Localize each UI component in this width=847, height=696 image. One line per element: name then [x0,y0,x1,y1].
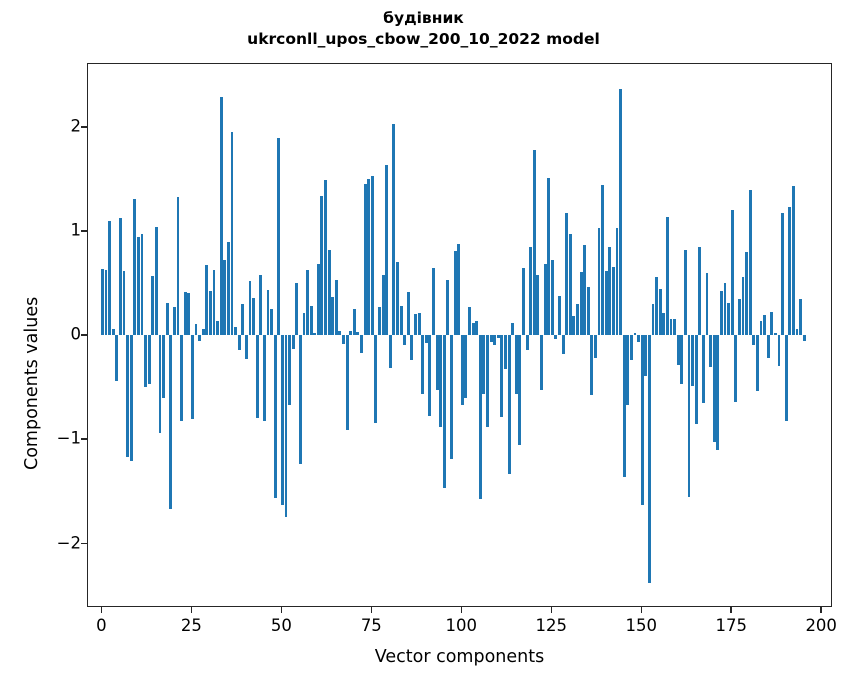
bar [385,165,388,336]
bar [500,335,503,416]
bar [742,277,745,335]
bar [141,234,144,336]
bar [378,307,381,335]
bar [202,329,205,335]
bar [320,196,323,335]
bar [353,309,356,335]
x-axis-label: Vector components [87,647,832,667]
bar [396,262,399,336]
bar [504,335,507,368]
bar [317,264,320,336]
x-tick-label: 175 [715,616,747,635]
bar [508,335,511,473]
bar [662,313,665,336]
bar [392,124,395,335]
bar [112,329,115,335]
bar [414,314,417,336]
y-tick-mark [81,230,87,232]
bar [749,190,752,336]
bar [544,264,547,336]
bar [536,275,539,335]
bar [159,335,162,433]
bar [630,335,633,360]
bar [680,335,683,384]
bar [177,197,180,335]
bar [464,335,467,397]
bar [418,313,421,336]
bar [432,268,435,336]
bar [195,324,198,335]
bar [587,287,590,336]
bar [303,313,306,336]
bar [565,213,568,336]
bar [367,179,370,335]
bar [292,335,295,349]
bar [554,335,557,338]
bar [612,267,615,336]
bar [162,335,165,397]
bar [702,335,705,403]
bar [706,273,709,335]
chart-title-subtitle: ukrconll_upos_cbow_200_10_2022 model [0,29,847,50]
bar [562,335,565,354]
bar [468,307,471,335]
bar [342,335,345,343]
bar [785,335,788,420]
bar [108,221,111,335]
x-tick-mark [551,607,553,613]
bar [450,335,453,459]
bar [436,335,439,389]
bar [659,289,662,336]
bar [684,250,687,335]
x-tick-mark [281,607,283,613]
bar [400,306,403,335]
bar [223,260,226,336]
bar [677,335,680,364]
bar [148,335,151,384]
bar [731,210,734,336]
bar [371,176,374,335]
bar [119,218,122,336]
bar [652,304,655,335]
bar [295,283,298,335]
bar [101,269,104,336]
bar [428,335,431,415]
bar [220,97,223,335]
bar [756,335,759,390]
bar [774,333,777,335]
bar [299,335,302,464]
bar [439,335,442,427]
bar [540,335,543,389]
bar [767,335,770,358]
bar [594,335,597,358]
x-axis-group: 0255075100125150175200 Vector components [87,607,832,687]
bar [421,335,424,393]
bar [356,332,359,335]
y-axis-label: Components values [22,297,42,470]
bar [518,335,521,444]
bar [328,250,331,335]
bar [166,303,169,335]
bar [803,335,806,340]
bar [770,312,773,336]
bar [105,270,108,336]
bar [180,335,183,420]
bars-container [88,64,831,606]
bar [461,335,464,405]
bar [216,321,219,336]
bar [778,335,781,365]
bar [598,228,601,335]
bar [130,335,133,461]
bar [151,276,154,335]
bar [745,252,748,335]
bar [497,335,500,337]
bar [522,268,525,336]
bar [184,292,187,336]
bar [796,329,799,335]
y-tick-label: 1 [71,221,82,240]
bar [698,247,701,335]
bar [187,293,190,336]
bar [155,227,158,335]
bar [313,333,316,335]
bar [788,207,791,336]
bar [331,297,334,335]
chart-title-block: будівник ukrconll_upos_cbow_200_10_2022 … [0,8,847,50]
bar [472,323,475,335]
bar [763,315,766,336]
bar [716,335,719,449]
x-tick-mark [101,607,103,613]
bar [277,138,280,336]
bar [213,270,216,336]
bar [281,335,284,505]
bar [443,335,446,488]
bar [526,335,529,350]
bar [249,281,252,335]
bar [734,335,737,402]
bar [691,335,694,386]
bar [346,335,349,430]
bar [547,178,550,335]
bar [695,335,698,423]
bar [799,299,802,335]
x-tick-label: 25 [181,616,202,635]
bar [256,335,259,417]
bar [601,185,604,336]
bar [349,331,352,335]
bar [410,335,413,360]
bar [623,335,626,476]
x-tick-mark [191,607,193,613]
bar [493,335,496,344]
y-tick-mark [81,334,87,336]
bar [727,303,730,335]
x-tick-label: 150 [626,616,658,635]
bar [457,244,460,336]
chart-title-main: будівник [0,8,847,29]
bar [454,251,457,335]
bar [446,280,449,335]
bar [306,270,309,336]
bar [551,260,554,336]
bar [133,199,136,335]
x-tick-label: 200 [805,616,837,635]
bar [634,333,637,335]
bar [482,335,485,393]
bar [259,275,262,335]
bar [267,290,270,336]
bar [619,89,622,336]
bar [583,245,586,335]
bar [738,299,741,335]
bar [126,335,129,457]
bar [644,335,647,376]
bar [781,213,784,336]
y-tick-mark [81,126,87,128]
bar [231,132,234,336]
bar [191,335,194,418]
bar [364,184,367,336]
bar [205,265,208,336]
x-tick-label: 75 [361,616,382,635]
bar [490,335,493,341]
bar [137,237,140,336]
bar [252,298,255,335]
x-tick-label: 50 [271,616,292,635]
y-tick-mark [81,543,87,545]
bar [486,335,489,427]
bar [616,228,619,335]
bar [245,335,248,359]
bar [209,291,212,336]
bar [389,335,392,367]
bar [310,306,313,335]
bar [529,247,532,335]
bar [123,271,126,335]
bar [720,291,723,336]
bar [198,335,201,340]
plot-axes-frame [87,63,832,607]
bar [558,296,561,336]
bar [479,335,482,498]
bar [173,307,176,335]
bar [572,316,575,336]
x-tick-mark [820,607,822,613]
y-tick-mark [81,438,87,440]
bar [425,335,428,342]
bar [590,335,593,394]
bar [234,327,237,335]
bar [374,335,377,422]
x-tick-label: 0 [96,616,107,635]
bar [274,335,277,497]
x-tick-mark [641,607,643,613]
bar [288,335,291,405]
bar [580,272,583,335]
bar [403,335,406,344]
bar [515,335,518,393]
x-tick-mark [371,607,373,613]
bar [673,319,676,336]
bar [169,335,172,509]
x-tick-label: 100 [446,616,478,635]
bar [670,319,673,336]
bar [338,331,341,335]
bar [648,335,651,583]
y-tick-label: 2 [71,117,82,136]
bar [382,275,385,335]
bar [407,292,410,336]
bar [324,180,327,335]
bar [270,309,273,335]
y-tick-label: 0 [71,325,82,344]
bar [608,247,611,335]
bar [285,335,288,517]
bar [227,242,230,336]
bar [713,335,716,441]
x-tick-label: 125 [536,616,568,635]
bar [533,150,536,335]
bar [605,271,608,335]
bar [760,321,763,336]
bar [724,283,727,335]
bar [144,335,147,387]
y-tick-label: −2 [57,533,81,552]
bar [511,323,514,335]
bar [569,234,572,336]
bar [792,186,795,336]
bar [641,335,644,505]
x-tick-mark [461,607,463,613]
bar [360,335,363,353]
bar [626,335,629,405]
x-tick-mark [730,607,732,613]
matplotlib-figure: будівник ukrconll_upos_cbow_200_10_2022 … [0,0,847,696]
bar [637,335,640,341]
bar [655,277,658,335]
bar [335,280,338,335]
bar [238,335,241,350]
bar [576,304,579,335]
bar [688,335,691,496]
bar [241,304,244,335]
bar [115,335,118,381]
bar [475,321,478,336]
bar [263,335,266,420]
bar [752,335,755,344]
bar [666,217,669,336]
bar [709,335,712,366]
y-tick-label: −1 [57,429,81,448]
